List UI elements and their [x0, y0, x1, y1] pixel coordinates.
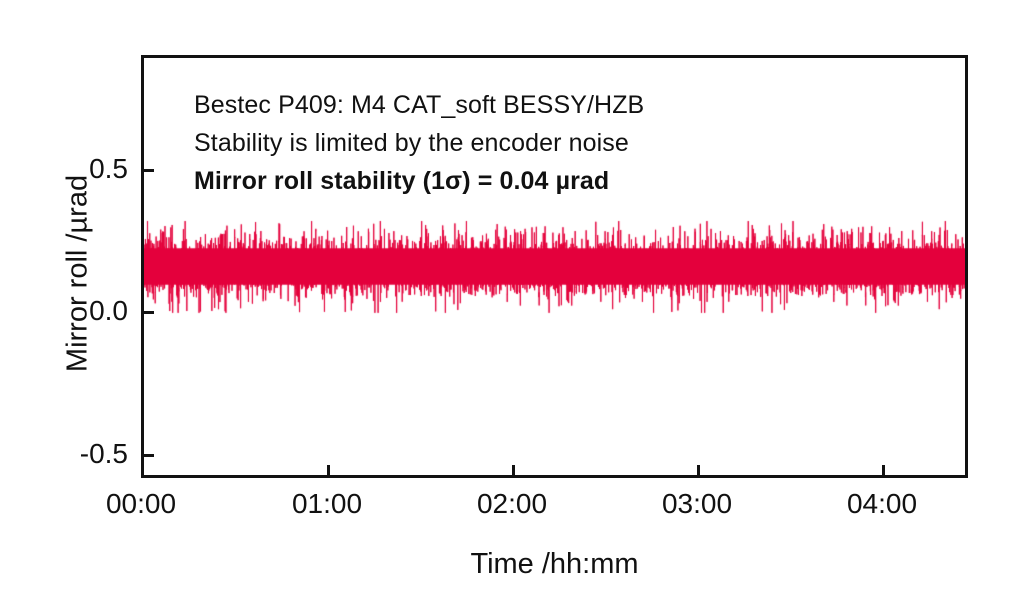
- chart-figure: Bestec P409: M4 CAT_soft BESSY/HZB Stabi…: [0, 0, 1024, 589]
- y-tick-mark-1: [141, 311, 154, 314]
- x-tick-mark-0: [141, 465, 144, 478]
- x-tick-label-4: 04:00: [797, 488, 967, 520]
- x-tick-label-2: 02:00: [427, 488, 597, 520]
- x-tick-mark-2: [512, 465, 515, 478]
- x-tick-label-1: 01:00: [242, 488, 412, 520]
- x-axis-label: Time /hh:mm: [141, 548, 968, 581]
- y-tick-mark-0: [141, 169, 154, 172]
- annotation-line-2: Stability is limited by the encoder nois…: [194, 124, 754, 162]
- annotation-line-1: Bestec P409: M4 CAT_soft BESSY/HZB: [194, 86, 754, 124]
- x-tick-mark-1: [327, 465, 330, 478]
- annotation-line-3: Mirror roll stability (1σ) = 0.04 µrad: [194, 162, 754, 200]
- x-tick-mark-4: [882, 465, 885, 478]
- x-tick-mark-3: [697, 465, 700, 478]
- annotation-block: Bestec P409: M4 CAT_soft BESSY/HZB Stabi…: [194, 86, 754, 200]
- y-tick-mark-2: [141, 454, 154, 457]
- x-tick-label-0: 00:00: [56, 488, 226, 520]
- y-axis-label: Mirror roll /µrad: [62, 64, 95, 484]
- x-tick-label-3: 03:00: [612, 488, 782, 520]
